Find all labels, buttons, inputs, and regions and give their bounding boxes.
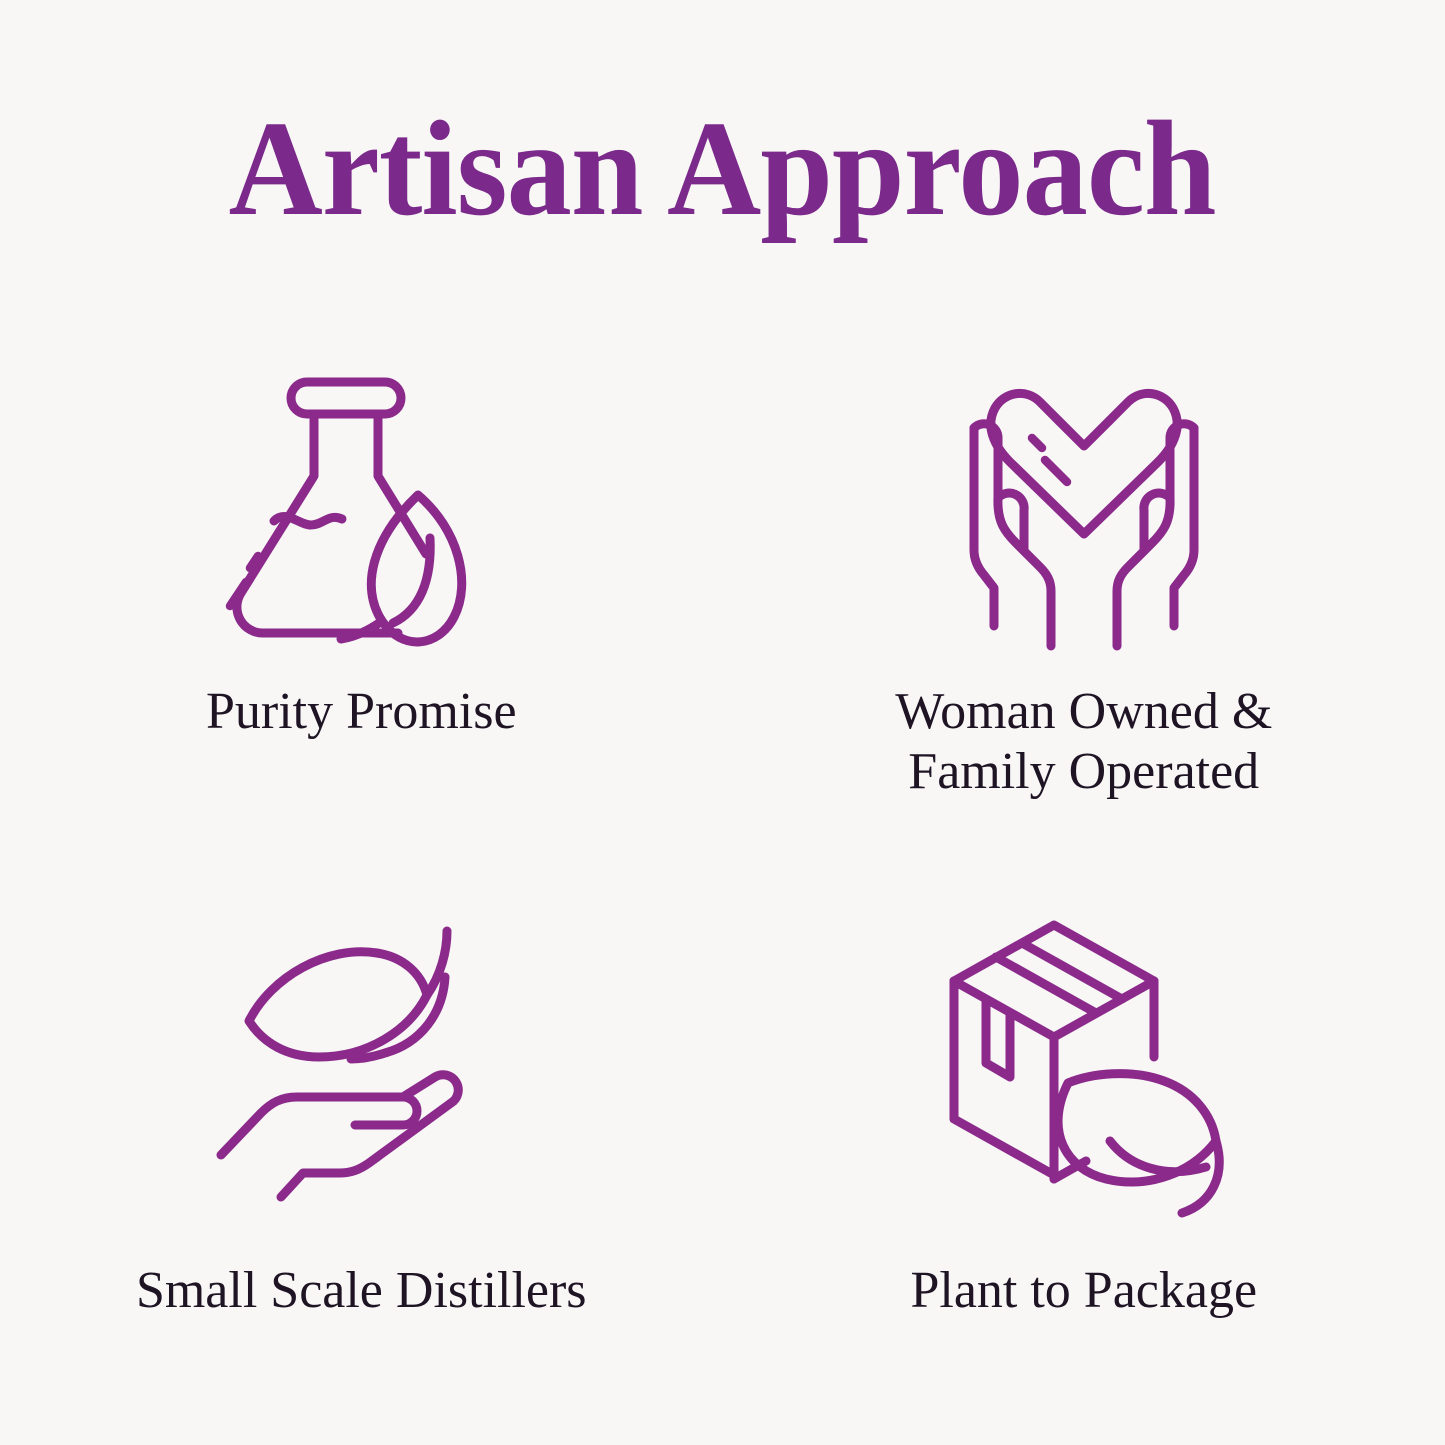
feature-label: Woman Owned & Family Operated <box>895 682 1272 802</box>
flask-leaf-icon <box>211 360 511 660</box>
hands-holding-heart-icon <box>934 360 1234 660</box>
feature-item-purity-promise: Purity Promise <box>0 330 723 855</box>
feature-item-plant-to-package: Plant to Package <box>723 855 1445 1380</box>
hand-holding-leaf-icon <box>211 915 511 1215</box>
features-grid: Purity Promise <box>0 330 1445 1380</box>
feature-item-small-scale-distillers: Small Scale Distillers <box>0 855 723 1380</box>
box-leaf-icon <box>934 915 1234 1215</box>
artisan-approach-infographic: Artisan Approach <box>0 0 1445 1445</box>
feature-item-woman-owned: Woman Owned & Family Operated <box>723 330 1445 855</box>
page-title-container: Artisan Approach <box>0 96 1445 243</box>
feature-label: Purity Promise <box>206 682 517 742</box>
page-title: Artisan Approach <box>229 96 1216 243</box>
feature-label: Small Scale Distillers <box>136 1261 587 1321</box>
feature-label: Plant to Package <box>910 1261 1257 1321</box>
